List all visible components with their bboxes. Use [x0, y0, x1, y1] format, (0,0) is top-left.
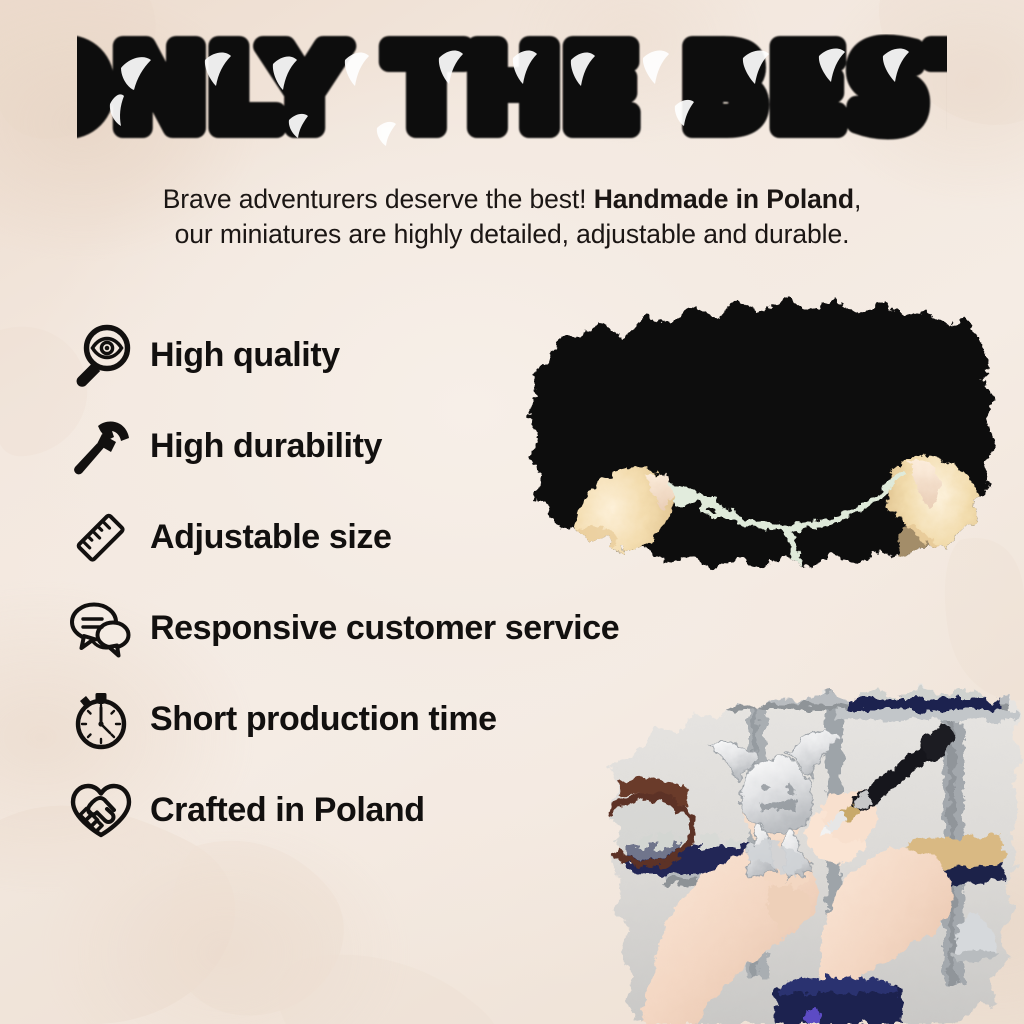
page-title-text: ONLY THE BEST: [77, 34, 947, 155]
magnifier-eye-icon: [62, 317, 140, 395]
handshake-heart-icon: [62, 772, 140, 850]
subtitle-emphasis: Handmade in Poland: [594, 184, 854, 214]
poster: ONLY THE BEST Brav: [0, 0, 1024, 1024]
painting-workshop-photo: [600, 658, 1024, 1024]
subtitle: Brave adventurers deserve the best! Hand…: [82, 182, 942, 252]
page-title: ONLY THE BEST: [0, 34, 1024, 154]
subtitle-lead: Brave adventurers deserve the best!: [163, 184, 594, 214]
feature-label: Crafted in Poland: [150, 791, 425, 830]
ruler-icon: [62, 499, 140, 577]
feature-label: Adjustable size: [150, 518, 392, 557]
subtitle-line-2: our miniatures are highly detailed, adju…: [175, 219, 850, 249]
feature-label: Short production time: [150, 700, 497, 739]
feature-label: Responsive customer service: [150, 609, 619, 648]
speech-bubbles-icon: [62, 590, 140, 668]
flexible-miniature-photo: [505, 278, 1005, 608]
feature-label: High quality: [150, 336, 340, 375]
subtitle-tail: ,: [854, 184, 861, 214]
stopwatch-icon: [62, 681, 140, 759]
hammer-icon: [62, 408, 140, 486]
feature-label: High durability: [150, 427, 382, 466]
